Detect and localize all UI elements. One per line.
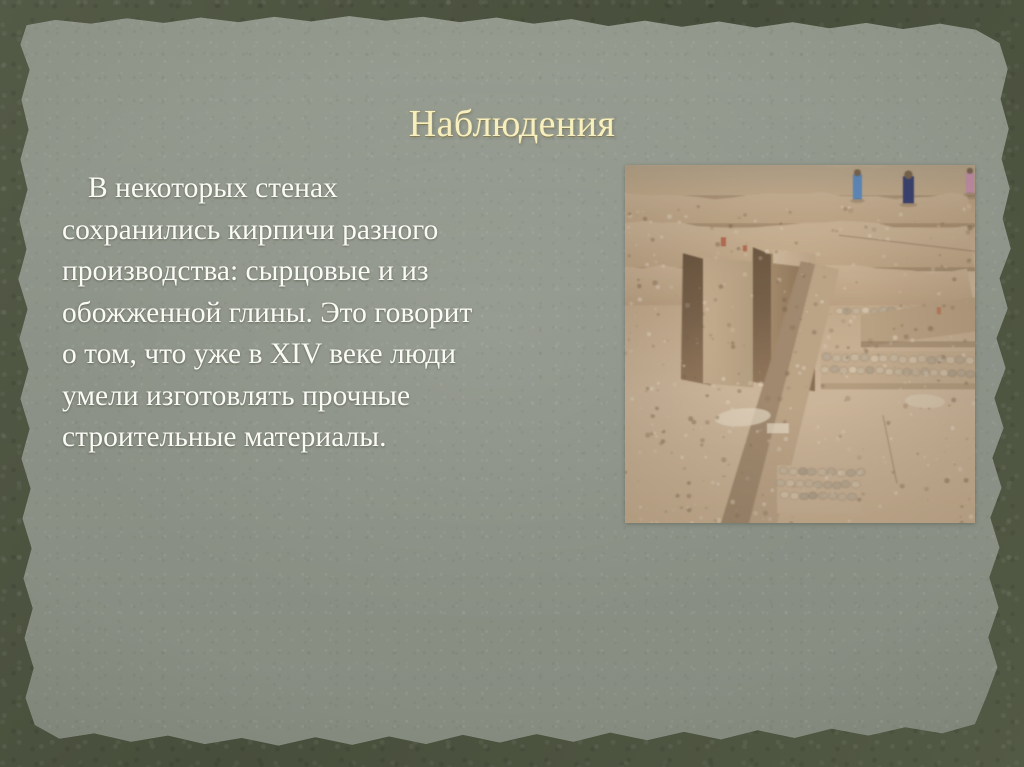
- excavation-photo-canvas: [625, 165, 975, 523]
- presentation-slide: Наблюдения В некоторых стенах сохранилис…: [0, 0, 1024, 767]
- slide-body-text: В некоторых стенах сохранились кирпичи р…: [62, 168, 492, 459]
- archaeological-excavation-photo: [625, 165, 975, 523]
- page-title: Наблюдения: [0, 102, 1024, 146]
